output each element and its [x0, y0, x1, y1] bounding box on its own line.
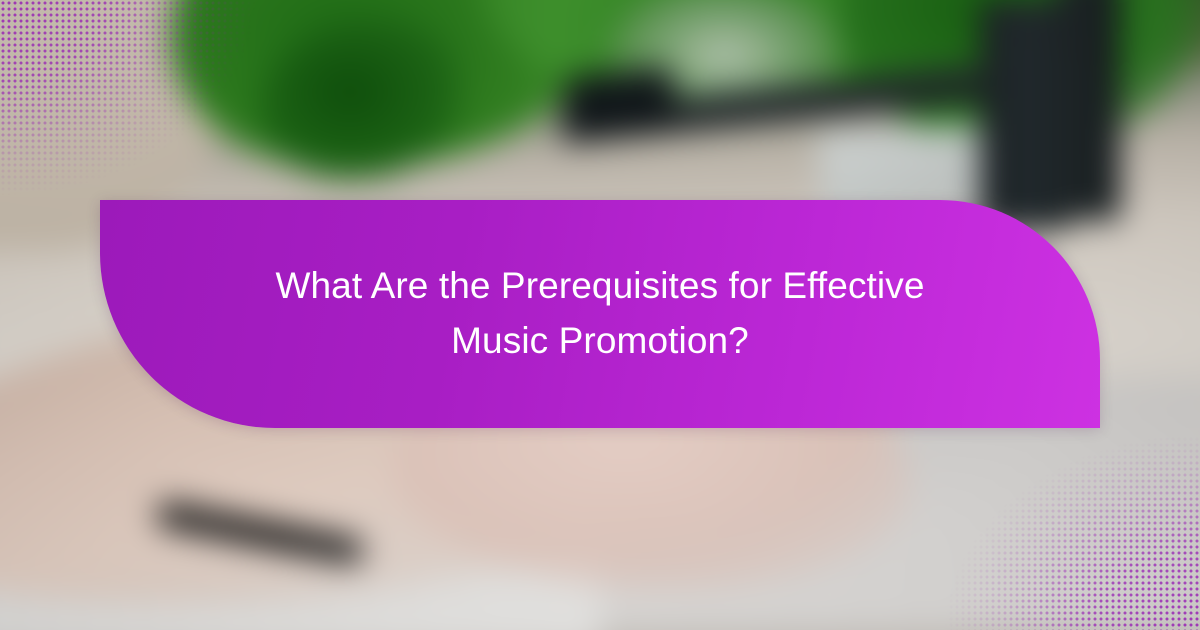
- halftone-dots-top-left: [0, 0, 300, 230]
- page-title: What Are the Prerequisites for Effective…: [200, 259, 1000, 369]
- title-banner: What Are the Prerequisites for Effective…: [100, 200, 1100, 428]
- hero-banner-card: What Are the Prerequisites for Effective…: [0, 0, 1200, 630]
- halftone-dots-bottom-right: [900, 400, 1200, 630]
